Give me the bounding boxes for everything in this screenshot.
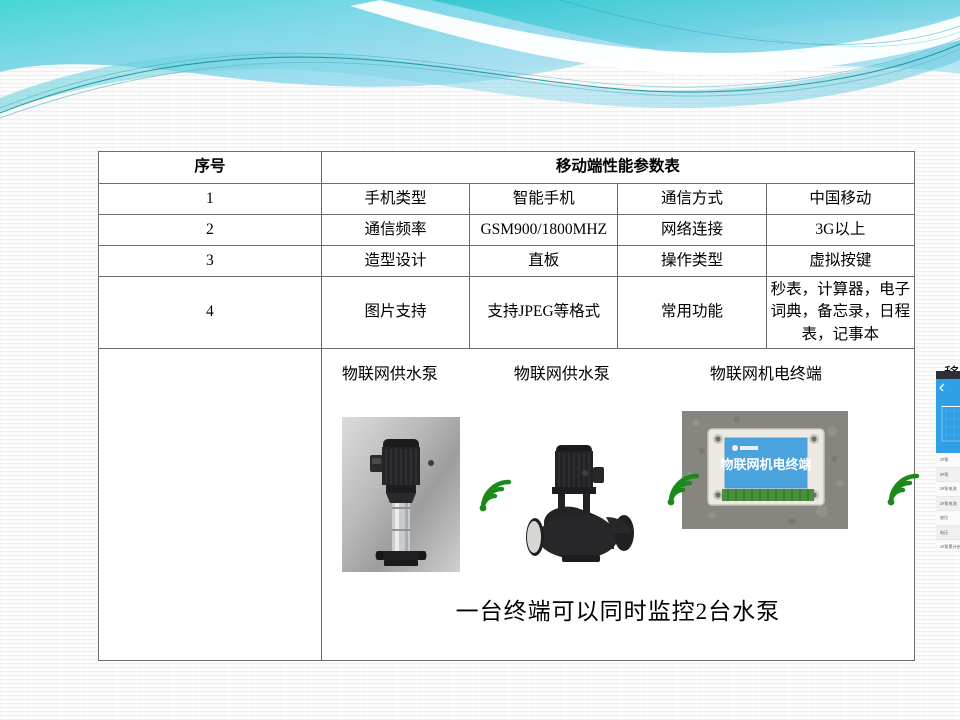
phone-status-bar xyxy=(936,371,960,379)
table-row: 4 图片支持 支持JPEG等格式 常用功能 秒表，计算器，电子词典，备忘录，日程… xyxy=(99,277,915,349)
phone-list-item-label: 2#泵 xyxy=(940,472,949,478)
row-value-2: 秒表，计算器，电子词典，备忘录，日程表，记事本 xyxy=(766,277,914,349)
row-value-1: GSM900/1800MHZ xyxy=(470,215,618,246)
phone-current-chart: 1#泵电流 xyxy=(936,391,960,453)
label-terminal: 物联网机电终端 xyxy=(710,363,822,386)
photo-mobile-app-screenshot: 设备详情 1#泵电流 xyxy=(936,371,960,549)
phone-list-item[interactable]: 电压375.00 xyxy=(936,526,960,541)
row-number: 3 xyxy=(99,246,322,277)
row-value-1: 支持JPEG等格式 xyxy=(470,277,618,349)
diagram-caption: 一台终端可以同时监控2台水泵 xyxy=(322,595,914,628)
row-key-1: 图片支持 xyxy=(321,277,469,349)
phone-list-item-label: 1#泵电流 xyxy=(940,486,957,492)
phone-list-item[interactable]: 1#泵累计启动次数4.00 xyxy=(936,540,960,549)
phone-list-item[interactable]: 1#泵 xyxy=(936,453,960,468)
wisp-wave-banner xyxy=(0,0,960,118)
row-key-1: 手机类型 xyxy=(321,184,469,215)
media-cell: 物联网供水泵 物联网供水泵 物联网机电终端 移动端显示 xyxy=(321,349,914,661)
phone-list-item-label: 2#泵电流 xyxy=(940,501,957,507)
row-key-1: 造型设计 xyxy=(321,246,469,277)
table-media-row: 物联网供水泵 物联网供水泵 物联网机电终端 移动端显示 xyxy=(99,349,915,661)
phone-list-item[interactable]: 液位0.00 xyxy=(936,511,960,526)
photo-inline-pipeline-pump xyxy=(514,437,642,572)
phone-list-item-label: 1#泵累计启动次数 xyxy=(940,544,960,549)
row-key-2: 网络连接 xyxy=(618,215,766,246)
row-number: 2 xyxy=(99,215,322,246)
row-key-2: 操作类型 xyxy=(618,246,766,277)
row-value-2: 中国移动 xyxy=(766,184,914,215)
table-row: 1 手机类型 智能手机 通信方式 中国移动 xyxy=(99,184,915,215)
phone-list-item[interactable]: 1#泵电流63.00 xyxy=(936,482,960,497)
wifi-signal-icon xyxy=(662,471,702,511)
label-pump-1: 物联网供水泵 xyxy=(342,363,438,386)
phone-parameter-list[interactable]: 1#泵2#泵1#泵电流63.002#泵电流60.00液位0.00电压375.00… xyxy=(936,453,960,549)
row-value-1: 智能手机 xyxy=(470,184,618,215)
table-header-row: 序号 移动端性能参数表 xyxy=(99,152,915,184)
phone-list-item-label: 液位 xyxy=(940,515,948,521)
phone-list-item-label: 电压 xyxy=(940,530,948,536)
row-key-2: 通信方式 xyxy=(618,184,766,215)
media-row-index-blank xyxy=(99,349,322,661)
terminal-device-label: 物联网机电终端 xyxy=(720,457,811,473)
phone-nav-bar: 设备详情 xyxy=(936,379,960,391)
wifi-signal-icon xyxy=(474,477,514,517)
phone-list-item[interactable]: 2#泵电流60.00 xyxy=(936,497,960,512)
wifi-signal-icon xyxy=(882,471,922,511)
row-value-2: 虚拟按键 xyxy=(766,246,914,277)
table-title: 移动端性能参数表 xyxy=(321,152,914,184)
photo-iot-terminal-device: 物联网机电终端 xyxy=(682,411,848,529)
phone-list-item-label: 1#泵 xyxy=(940,457,949,463)
row-key-1: 通信频率 xyxy=(321,215,469,246)
mobile-parameter-table: 序号 移动端性能参数表 1 手机类型 智能手机 通信方式 中国移动 2 通信频率… xyxy=(98,151,915,661)
photo-vertical-multistage-pump xyxy=(342,417,460,572)
row-value-1: 直板 xyxy=(470,246,618,277)
header-index-label: 序号 xyxy=(99,152,322,184)
row-number: 4 xyxy=(99,277,322,349)
table-row: 2 通信频率 GSM900/1800MHZ 网络连接 3G以上 xyxy=(99,215,915,246)
phone-list-item[interactable]: 2#泵 xyxy=(936,468,960,483)
label-pump-2: 物联网供水泵 xyxy=(514,363,610,386)
row-key-2: 常用功能 xyxy=(618,277,766,349)
row-number: 1 xyxy=(99,184,322,215)
device-diagram-panel: 物联网供水泵 物联网供水泵 物联网机电终端 移动端显示 xyxy=(322,349,914,656)
table-row: 3 造型设计 直板 操作类型 虚拟按键 xyxy=(99,246,915,277)
row-value-2: 3G以上 xyxy=(766,215,914,246)
